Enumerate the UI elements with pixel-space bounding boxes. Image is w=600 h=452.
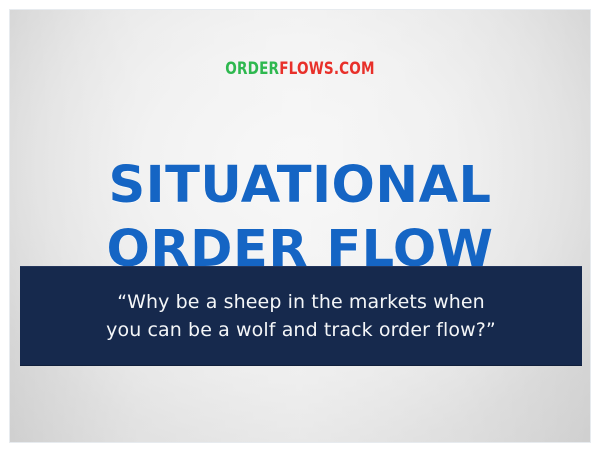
quote-banner: “Why be a sheep in the markets when you …: [20, 266, 582, 366]
brand-logo: ORDERFLOWS.COM: [68, 61, 532, 78]
brand-logo-order-text: ORDER: [225, 59, 279, 79]
slide-card: ORDERFLOWS.COM SITUATIONAL ORDER FLOW “W…: [9, 9, 591, 443]
quote-text: “Why be a sheep in the markets when you …: [37, 288, 565, 344]
slide-title: SITUATIONAL ORDER FLOW: [10, 154, 590, 282]
quote-line-2: you can be a wolf and track order flow?”: [37, 316, 565, 344]
slide-content: ORDERFLOWS.COM SITUATIONAL ORDER FLOW “W…: [10, 10, 590, 442]
slide-title-line-1: SITUATIONAL: [10, 154, 590, 218]
brand-logo-flows-text: FLOWS.COM: [279, 59, 375, 79]
quote-line-1: “Why be a sheep in the markets when: [37, 288, 565, 316]
